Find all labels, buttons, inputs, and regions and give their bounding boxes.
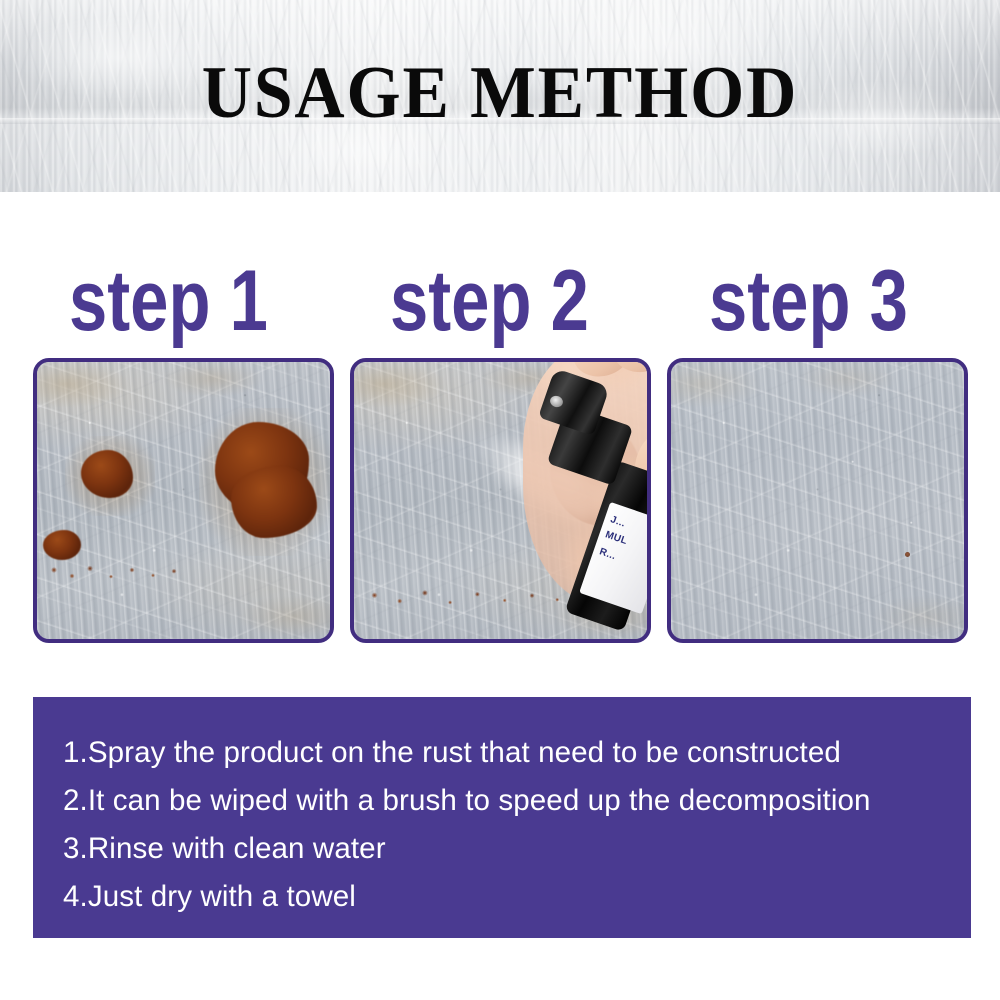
instruction-line: 3.Rinse with clean water <box>63 825 957 873</box>
step-photo-1 <box>33 358 334 643</box>
instruction-line: 1.Spray the product on the rust that nee… <box>63 729 957 777</box>
step-photo-3-image <box>671 362 964 639</box>
rust-patch-small <box>43 530 81 560</box>
instructions-box: 1.Spray the product on the rust that nee… <box>33 697 971 938</box>
rust-speckle-streak <box>45 558 195 588</box>
rust-speckle-streak <box>364 580 574 614</box>
step-photo-2: J... MUL R... <box>350 358 651 643</box>
rust-patch-medium <box>81 450 133 498</box>
step-photo-2-image: J... MUL R... <box>354 362 647 639</box>
instruction-line: 4.Just dry with a towel <box>63 873 957 921</box>
step-photo-3 <box>667 358 968 643</box>
instruction-line: 2.It can be wiped with a brush to speed … <box>63 777 957 825</box>
residual-rust-fleck <box>905 552 910 557</box>
step-photo-1-image <box>37 362 330 639</box>
metal-specks <box>671 362 964 639</box>
